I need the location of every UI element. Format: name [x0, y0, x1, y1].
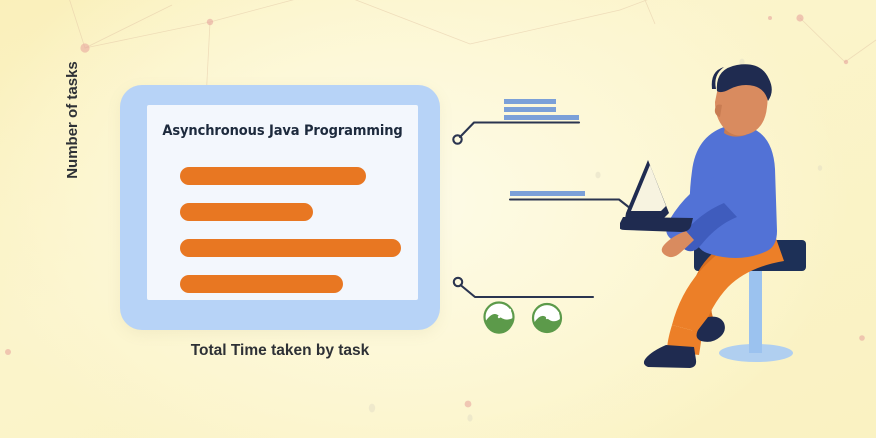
bar-task-4 [180, 275, 343, 293]
connector-line [461, 285, 594, 297]
bar-icon [504, 115, 579, 120]
bar-task-2 [180, 203, 313, 221]
x-axis-label: Total Time taken by task [120, 342, 440, 360]
laptop-screen-inner [631, 165, 666, 211]
y-axis-label: Number of tasks [64, 40, 81, 200]
chart-panel: Asynchronous Java Programming [147, 105, 418, 300]
connector-line [510, 200, 635, 213]
bar-icon [510, 191, 585, 196]
chart-title: Asynchronous Java Programming [147, 123, 418, 139]
chart-card: Asynchronous Java Programming [120, 85, 440, 330]
shoe-front [644, 345, 696, 368]
illustration-scene: Number of tasks Asynchronous Java Progra… [0, 0, 876, 438]
bar-task-3 [180, 239, 401, 257]
person-with-laptop [620, 55, 876, 375]
gauge-left [485, 303, 514, 334]
laptop-base [620, 217, 693, 232]
connector-line [460, 123, 579, 138]
pipeline-group-bottom [454, 278, 593, 297]
bar-icon [504, 107, 556, 112]
node-dot-icon [453, 135, 461, 143]
bar-icon [504, 99, 556, 104]
pipeline-group-top [453, 99, 579, 144]
gauge-right [533, 304, 561, 333]
bar-task-1 [180, 167, 366, 185]
hand [662, 231, 694, 257]
stool-leg [749, 265, 762, 353]
bar-chart-bars [180, 167, 408, 288]
